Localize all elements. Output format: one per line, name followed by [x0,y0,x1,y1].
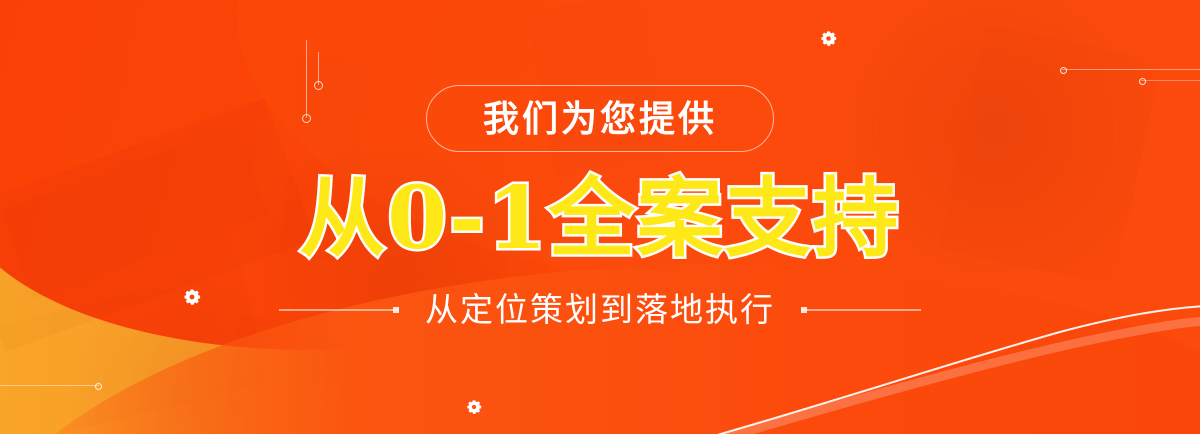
ornament-horizontal-line-3 [0,385,99,386]
gear-icon-top-right [820,30,837,47]
subtitle-rule-left-cap [393,307,399,313]
ornament-circle-dot-2 [314,81,323,90]
ornament-horizontal-line-1 [1062,69,1200,70]
subtitle-label: 从定位策划到落地执行 [425,293,775,326]
ornament-horizontal-line-2 [1141,80,1200,81]
eyebrow-pill: 我们为您提供 [426,85,774,152]
ornament-horizontal-dot-2 [1139,78,1146,85]
subtitle-rule-left [279,309,399,311]
hero-banner: 我们为您提供 从0-1全案支持 从定位策划到落地执行 [0,0,1200,434]
ornament-circle-dot-1 [302,114,311,123]
subtitle-row: 从定位策划到落地执行 [0,293,1200,326]
ornament-horizontal-dot-3 [95,383,102,390]
subtitle-rule-right-cap [801,307,807,313]
gear-icon-bottom-center [466,399,482,415]
subtitle-rule-right [801,309,921,311]
ornament-horizontal-dot-1 [1060,67,1067,74]
eyebrow-label: 我们为您提供 [483,101,717,137]
ornament-vertical-line-1 [306,40,307,118]
headline: 从0-1全案支持 [0,176,1200,262]
